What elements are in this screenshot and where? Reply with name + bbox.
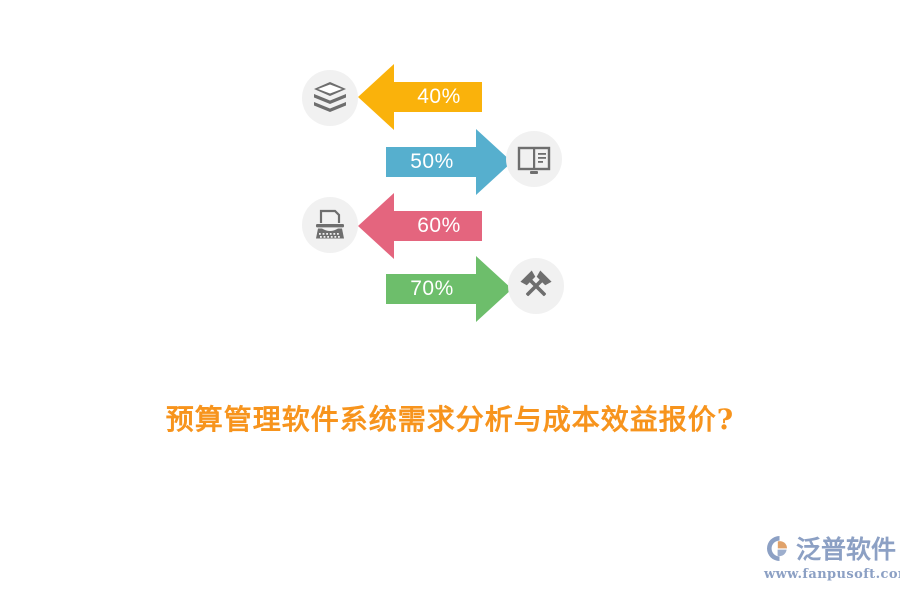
percent-label-60: 60% xyxy=(402,191,476,261)
stack-of-books-icon xyxy=(302,70,358,126)
typewriter-icon xyxy=(302,197,358,253)
arrow-row-70: 70% xyxy=(386,254,512,324)
page-title: 预算管理软件系统需求分析与成本效益报价? xyxy=(0,398,900,438)
percent-label-70: 70% xyxy=(394,254,470,324)
brand-watermark: 泛普软件 www.fanpusoft.com xyxy=(764,534,894,586)
open-book-icon xyxy=(506,131,562,187)
percent-label-50: 50% xyxy=(394,127,470,197)
percent-label-40: 40% xyxy=(402,62,476,132)
arrow-percentage-infographic: 40% 50% xyxy=(0,0,900,340)
arrow-row-40: 40% xyxy=(358,62,482,132)
brand-url: www.fanpusoft.com xyxy=(764,567,894,582)
page-canvas: 40% 50% xyxy=(0,0,900,600)
fanpu-logo-mark xyxy=(764,533,794,568)
crossed-hammers-icon xyxy=(508,258,564,314)
brand-name: 泛普软件 xyxy=(796,535,896,565)
arrow-row-50: 50% xyxy=(386,127,512,197)
arrow-row-60: 60% xyxy=(358,191,482,261)
